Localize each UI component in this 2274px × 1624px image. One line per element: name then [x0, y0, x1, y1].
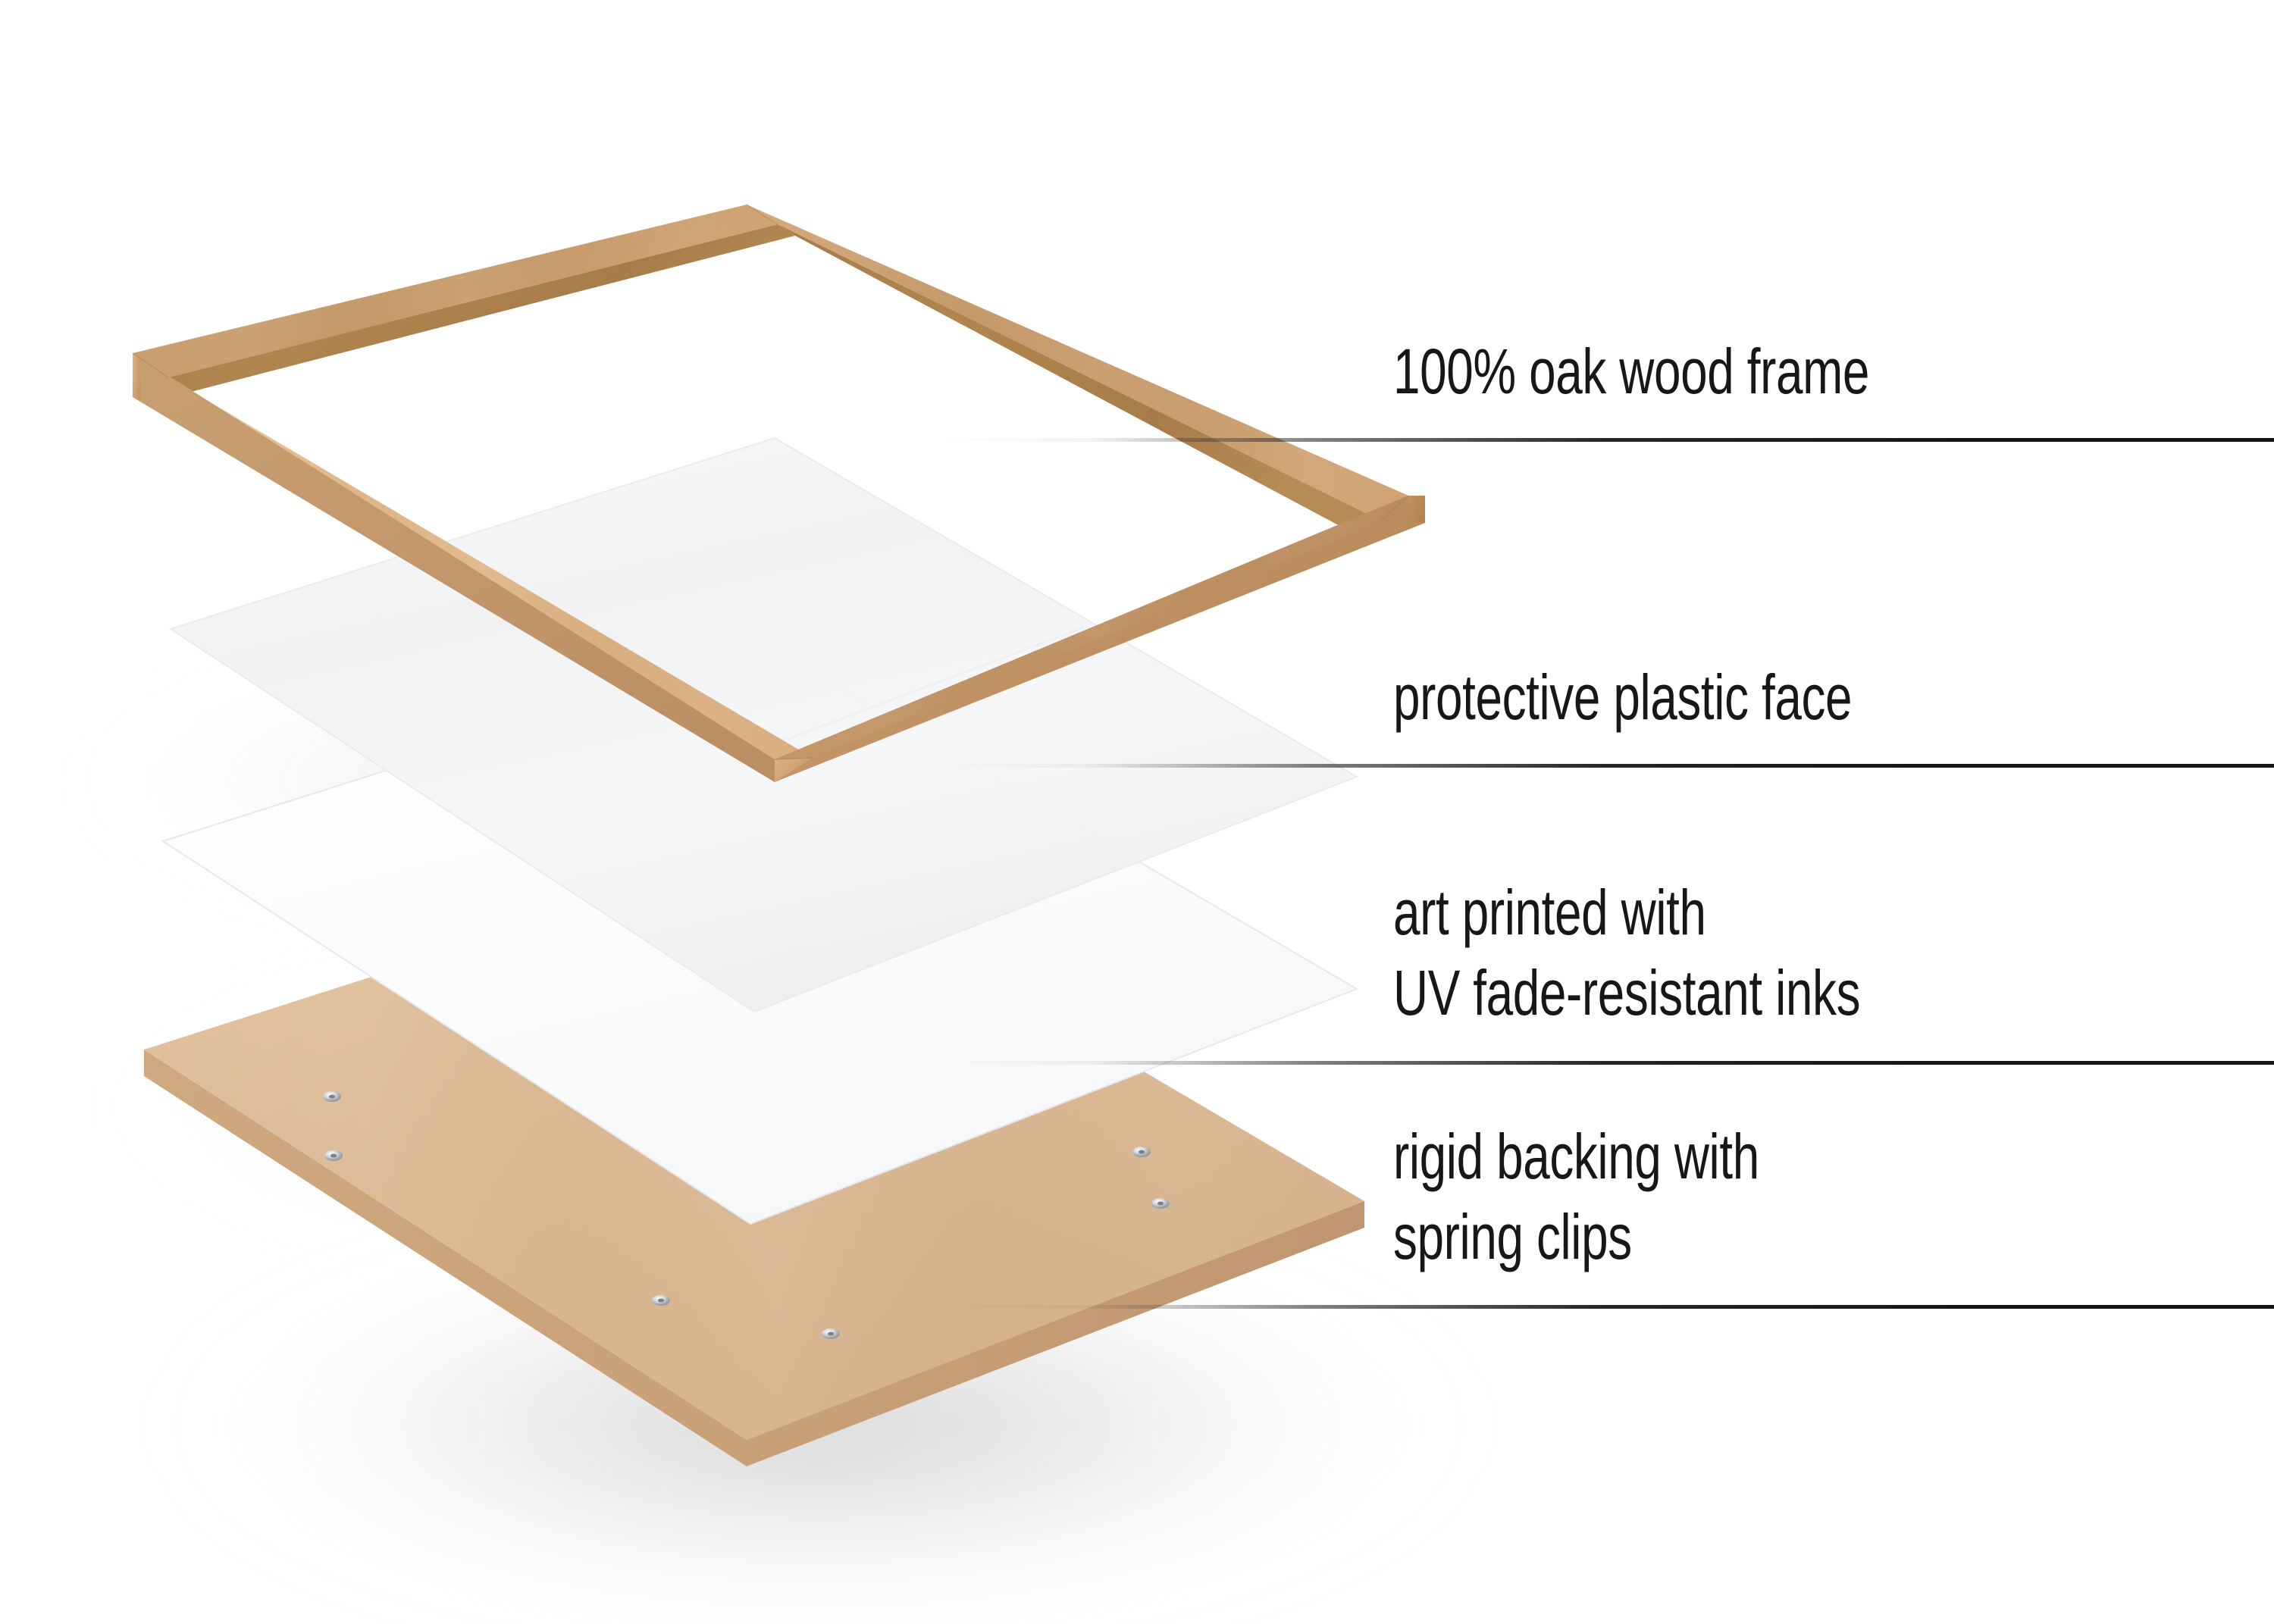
callout-label-oak-frame: 100% oak wood frame	[1393, 332, 1869, 412]
leader-line-oak-frame	[938, 438, 2274, 442]
frame-rail-topleft-grain	[133, 205, 778, 377]
product-illustration	[0, 0, 2274, 1624]
callout-protective-plastic[interactable]: protective plastic face	[1393, 658, 1997, 738]
spring-clip[interactable]	[324, 1150, 343, 1161]
callout-label-art-print: art printed with UV fade-resistant inks	[1393, 873, 1860, 1034]
leader-line-protective-plastic	[938, 764, 2274, 768]
frame-rail-topright-grain	[747, 205, 1408, 521]
spring-clip[interactable]	[652, 1295, 670, 1306]
leader-line-rigid-backing	[938, 1305, 2274, 1309]
spring-clip[interactable]	[822, 1328, 840, 1339]
frame-rail-topleft-bevel	[168, 224, 795, 392]
callout-art-print[interactable]: art printed with UV fade-resistant inks	[1393, 873, 2008, 1034]
callout-label-rigid-backing: rigid backing with spring clips	[1393, 1117, 1759, 1278]
frame-rail-right-side	[1408, 496, 1425, 523]
spring-clip[interactable]	[323, 1091, 341, 1102]
callout-rigid-backing[interactable]: rigid backing with spring clips	[1393, 1117, 1875, 1278]
frame-rail-topright-bevel	[778, 224, 1381, 535]
frame-corner-west-endgrain	[133, 353, 140, 402]
callout-label-protective-plastic: protective plastic face	[1393, 658, 1852, 738]
leader-line-art-print	[938, 1061, 2274, 1065]
exploded-frame-diagram: 100% oak wood frame protective plastic f…	[0, 0, 2274, 1624]
callout-oak-frame[interactable]: 100% oak wood frame	[1393, 332, 2019, 412]
spring-clip[interactable]	[1132, 1147, 1151, 1157]
spring-clip[interactable]	[1151, 1198, 1170, 1209]
